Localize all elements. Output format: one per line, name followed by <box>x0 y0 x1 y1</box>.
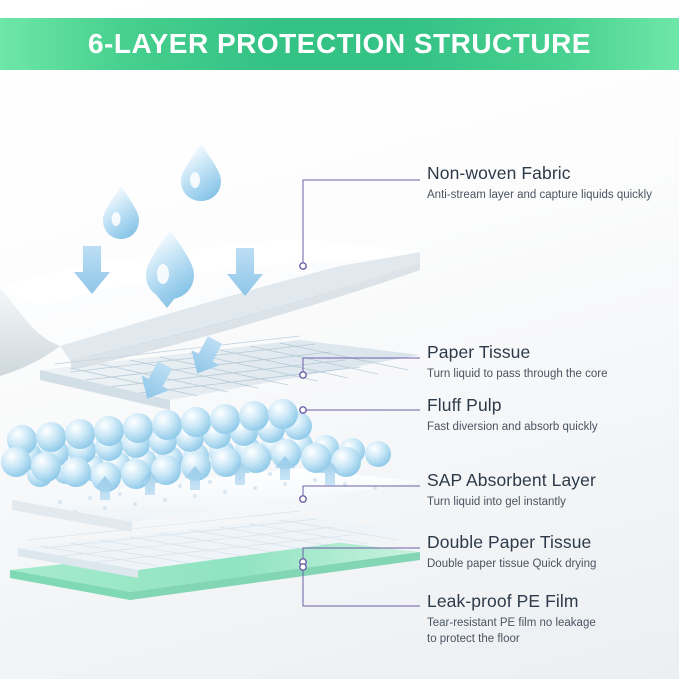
callout-title: Non-woven Fabric <box>427 163 652 184</box>
callout-subtitle: Turn liquid to pass through the core <box>427 367 608 383</box>
callout-paper-tissue: Paper Tissue Turn liquid to pass through… <box>427 342 608 383</box>
header-banner: 6-LAYER PROTECTION STRUCTURE <box>0 18 679 70</box>
page-title: 6-LAYER PROTECTION STRUCTURE <box>88 28 591 60</box>
callout-fluff-pulp: Fluff Pulp Fast diversion and absorb qui… <box>427 395 598 436</box>
diagram-page: 6-LAYER PROTECTION STRUCTURE <box>0 0 679 679</box>
callout-title: SAP Absorbent Layer <box>427 470 596 491</box>
callout-subtitle: Anti-stream layer and capture liquids qu… <box>427 188 652 204</box>
callout-leak-proof-pe-film: Leak-proof PE Film Tear-resistant PE fil… <box>427 591 596 647</box>
callout-sap-absorbent-layer: SAP Absorbent Layer Turn liquid into gel… <box>427 470 596 511</box>
callout-subtitle: Double paper tissue Quick drying <box>427 557 596 573</box>
callout-title: Fluff Pulp <box>427 395 598 416</box>
layer-stack-illustration: Non-woven Fabric Anti-stream layer and c… <box>0 70 679 679</box>
callout-title: Double Paper Tissue <box>427 532 596 553</box>
callout-non-woven-fabric: Non-woven Fabric Anti-stream layer and c… <box>427 163 652 204</box>
callout-subtitle: Turn liquid into gel instantly <box>427 495 596 511</box>
callout-double-paper-tissue: Double Paper Tissue Double paper tissue … <box>427 532 596 573</box>
callout-title: Leak-proof PE Film <box>427 591 596 612</box>
callout-title: Paper Tissue <box>427 342 608 363</box>
callout-subtitle: Tear-resistant PE film no leakage to pro… <box>427 616 596 647</box>
callout-subtitle: Fast diversion and absorb quickly <box>427 420 598 436</box>
